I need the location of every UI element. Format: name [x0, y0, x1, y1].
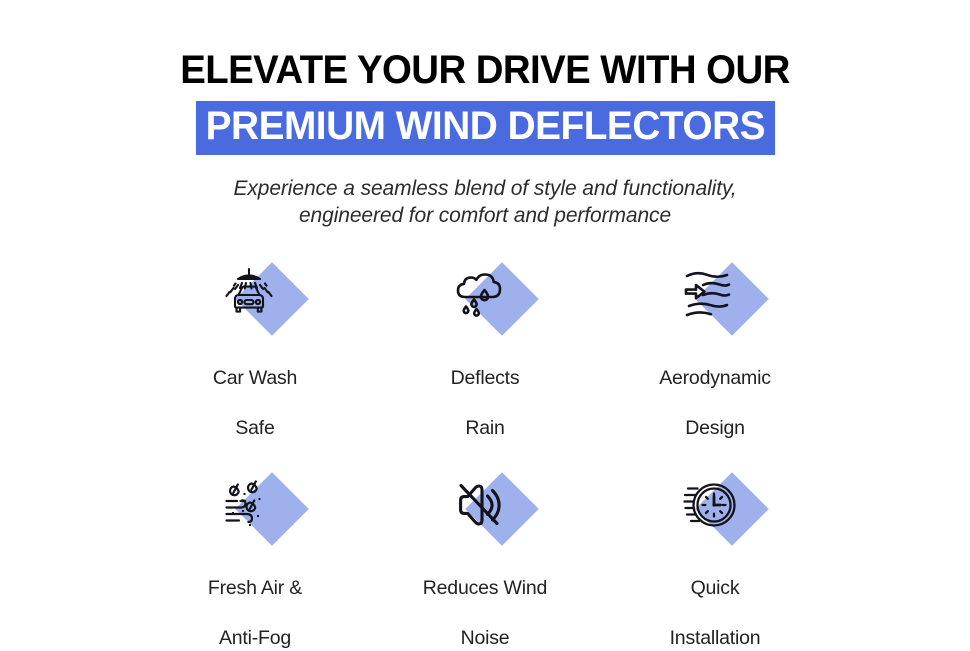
- feature-label-line-2: Noise: [461, 627, 510, 649]
- fast-clock-icon: [673, 469, 745, 541]
- feature-label: Quick Installation: [600, 551, 830, 651]
- headline-highlight: PREMIUM WIND DEFLECTORS: [196, 101, 775, 155]
- feature-icon-wrapper: [203, 257, 307, 333]
- car-wash-icon: [213, 259, 285, 331]
- headline-highlight-row: PREMIUM WIND DEFLECTORS: [0, 101, 970, 155]
- feature-icon-wrapper: [433, 257, 537, 333]
- feature-label: Car Wash Safe: [140, 341, 370, 441]
- feature-item-aerodynamic-design: Aerodynamic Design: [600, 257, 830, 441]
- feature-label-line-1: Deflects: [451, 367, 520, 389]
- feature-item-deflects-rain: Deflects Rain: [370, 257, 600, 441]
- promo-banner: ELEVATE YOUR DRIVE WITH OUR PREMIUM WIND…: [0, 0, 970, 600]
- feature-label: Aerodynamic Design: [600, 341, 830, 441]
- feature-label-line-2: Safe: [235, 417, 274, 439]
- feature-label-line-2: Rain: [465, 417, 504, 439]
- feature-icon-wrapper: [663, 257, 767, 333]
- feature-label-line-1: Aerodynamic: [659, 367, 771, 389]
- fresh-air-leaves-icon: [213, 469, 285, 541]
- subtitle-line-2: engineered for comfort and performance: [299, 204, 671, 227]
- feature-label-line-1: Fresh Air &: [208, 577, 302, 599]
- airflow-arrow-icon: [673, 259, 745, 331]
- subtitle-line-1: Experience a seamless blend of style and…: [233, 177, 736, 200]
- feature-label-line-2: Design: [685, 417, 745, 439]
- feature-label: Deflects Rain: [370, 341, 600, 441]
- feature-item-reduces-wind-noise: Reduces Wind Noise: [370, 467, 600, 651]
- feature-icon-wrapper: [203, 467, 307, 543]
- feature-item-quick-installation: Quick Installation: [600, 467, 830, 651]
- feature-icon-wrapper: [433, 467, 537, 543]
- headline-primary: ELEVATE YOUR DRIVE WITH OUR: [19, 48, 950, 92]
- feature-icon-wrapper: [663, 467, 767, 543]
- feature-label-line-2: Anti-Fog: [219, 627, 291, 649]
- feature-label-line-1: Reduces Wind: [423, 577, 547, 599]
- feature-label-line-1: Quick: [691, 577, 740, 599]
- subtitle: Experience a seamless blend of style and…: [175, 175, 795, 229]
- muted-speaker-icon: [443, 469, 515, 541]
- feature-item-fresh-air-anti-fog: Fresh Air & Anti-Fog: [140, 467, 370, 651]
- banner-header: ELEVATE YOUR DRIVE WITH OUR PREMIUM WIND…: [0, 0, 970, 229]
- feature-label-line-2: Installation: [670, 627, 761, 649]
- feature-item-car-wash-safe: Car Wash Safe: [140, 257, 370, 441]
- feature-label: Fresh Air & Anti-Fog: [140, 551, 370, 651]
- feature-label: Reduces Wind Noise: [370, 551, 600, 651]
- rain-cloud-icon: [443, 259, 515, 331]
- feature-grid: Car Wash Safe Deflects: [140, 229, 830, 651]
- feature-label-line-1: Car Wash: [213, 367, 297, 389]
